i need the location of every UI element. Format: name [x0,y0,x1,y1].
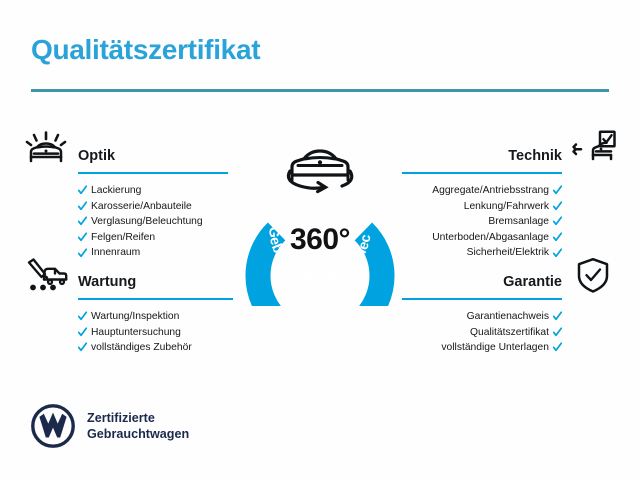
list-item-label: Lenkung/Fahrwerk [464,199,549,215]
check-icon [78,232,87,243]
check-icon [553,185,562,196]
section-optik-divider [78,172,228,174]
section-wartung: Wartung Wartung/Inspektion Hauptuntersuc… [24,256,236,356]
section-garantie-title: Garantie [503,274,562,290]
list-item-label: Lackierung [91,183,141,199]
list-item: Bremsanlage [402,214,562,230]
list-item-label: vollständige Unterlagen [441,340,549,356]
list-item: Wartung/Inspektion [78,309,236,325]
list-item-label: Aggregate/Antriebsstrang [432,183,549,199]
list-item: vollständige Unterlagen [402,340,562,356]
check-icon [553,232,562,243]
section-garantie-header: Garantie [402,256,616,298]
list-item: Verglasung/Beleuchtung [78,214,234,230]
section-optik-header: Optik [24,130,234,172]
list-item: Felgen/Reifen [78,230,234,246]
list-item: Hauptuntersuchung [78,325,236,341]
footer-branding: Zertifizierte Gebrauchtwagen [31,404,189,448]
check-icon [78,342,87,353]
check-icon [78,185,87,196]
list-item: Karosserie/Anbauteile [78,199,234,215]
car-shine-icon [24,130,70,170]
list-item: vollständiges Zubehör [78,340,236,356]
footer-line-2: Gebrauchtwagen [87,426,189,442]
volkswagen-logo-icon [31,404,75,448]
check-icon [78,327,87,338]
section-technik-title: Technik [508,148,562,164]
list-item-label: Verglasung/Beleuchtung [91,214,203,230]
list-item: Lackierung [78,183,234,199]
list-item-label: vollständiges Zubehör [91,340,192,356]
section-wartung-title: Wartung [78,274,136,290]
list-item-label: Hauptuntersuchung [91,325,181,341]
wrench-car-icon [24,256,70,296]
shield-check-icon [570,256,616,296]
section-wartung-list: Wartung/Inspektion Hauptuntersuchung vol… [24,309,236,356]
check-icon [553,311,562,322]
list-item-label: Unterboden/Abgasanlage [432,230,549,246]
section-technik: Technik Aggregate/Antriebsstrang Lenkung… [402,130,616,261]
section-technik-header: Technik [402,130,616,172]
section-garantie-list: Garantienachweis Qualitätszertifikat vol… [402,309,616,356]
page-title: Qualitätszertifikat [31,34,260,66]
footer-line-1: Zertifizierte [87,410,189,426]
title-divider [31,89,609,92]
list-item-label: Garantienachweis [467,309,549,325]
qualitaetszertifikat-page: Qualitätszertifikat [0,0,640,480]
car-checkbox-icon [570,130,616,170]
badge-center-label: 360° [236,223,404,257]
check-icon [553,342,562,353]
list-item-label: Wartung/Inspektion [91,309,179,325]
section-garantie-divider [402,298,562,300]
check-icon [78,216,87,227]
section-wartung-header: Wartung [24,256,236,298]
list-item: Garantienachweis [402,309,562,325]
check-icon [78,311,87,322]
list-item: Unterboden/Abgasanlage [402,230,562,246]
check-icon [78,201,87,212]
check-icon [553,201,562,212]
section-technik-list: Aggregate/Antriebsstrang Lenkung/Fahrwer… [402,183,616,261]
gebrauchtwagen-check-badge: Gebrauchtwagen-Check 360° [236,121,404,306]
section-wartung-divider [78,298,233,300]
list-item: Lenkung/Fahrwerk [402,199,562,215]
section-technik-divider [402,172,562,174]
list-item-label: Bremsanlage [488,214,549,230]
section-garantie: Garantie Garantienachweis Qualitätszerti… [402,256,616,356]
list-item: Qualitätszertifikat [402,325,562,341]
section-optik-list: Lackierung Karosserie/Anbauteile Verglas… [24,183,234,261]
list-item-label: Felgen/Reifen [91,230,155,246]
section-optik-title: Optik [78,148,115,164]
section-optik: Optik Lackierung Karosserie/Anbauteile V… [24,130,234,261]
footer-label: Zertifizierte Gebrauchtwagen [87,410,189,442]
check-icon [553,327,562,338]
list-item-label: Karosserie/Anbauteile [91,199,192,215]
list-item: Aggregate/Antriebsstrang [402,183,562,199]
check-icon [553,216,562,227]
list-item-label: Qualitätszertifikat [470,325,549,341]
